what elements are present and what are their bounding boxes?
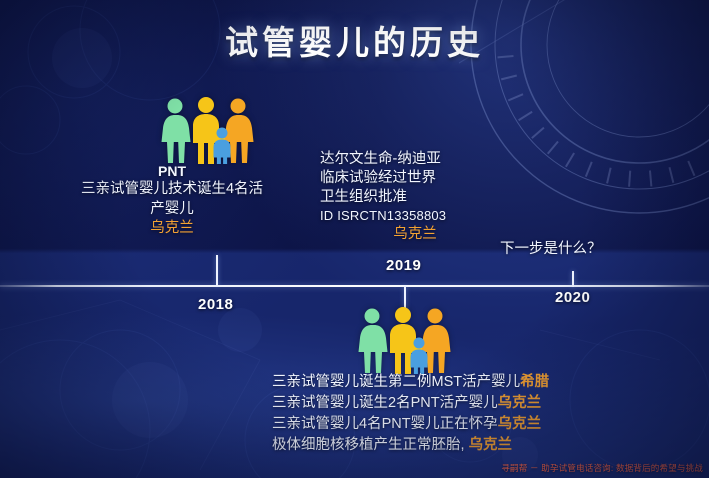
- timeline-year-2020: 2020: [555, 289, 590, 306]
- detail-row-text: 三亲试管婴儿4名PNT婴儿正在怀孕: [272, 416, 498, 432]
- detail-row-country: 乌克兰: [469, 437, 513, 453]
- detail-row: 极体细胞核移植产生正常胚胎, 乌克兰: [272, 435, 652, 456]
- event-block-2020: 下一步是什么？: [500, 240, 670, 259]
- detail-row: 三亲试管婴儿诞生2名PNT活产婴儿乌克兰: [272, 393, 652, 414]
- watermark-text: 寻嗣帮 － 助孕试管电话咨询: 数据背后的希望与挑战: [501, 462, 703, 474]
- event-2019-line2: 临床试验经过世界: [320, 169, 510, 188]
- event-2019-country: 乌克兰: [320, 225, 510, 244]
- timeline-tick-2018: [216, 255, 218, 286]
- event-2019-trial-id: ID ISRCTN13358803: [320, 207, 510, 224]
- detail-row-country: 希腊: [520, 374, 549, 390]
- detail-row-country: 乌克兰: [498, 395, 542, 411]
- event-2019-line3: 卫生组织批准: [320, 188, 510, 207]
- event-2018-line1: 三亲试管婴儿技术诞生4名活: [62, 180, 282, 199]
- detail-row-text: 三亲试管婴儿诞生第二例MST活产婴儿: [272, 374, 520, 390]
- family-people-icon-2019: [355, 306, 453, 374]
- detail-row-text: 极体细胞核移植产生正常胚胎,: [272, 437, 469, 453]
- family-people-icon-2018: [158, 96, 256, 164]
- detail-row-text: 三亲试管婴儿诞生2名PNT活产婴儿: [272, 395, 498, 411]
- event-block-2019-top: 达尔文生命-纳迪亚 临床试验经过世界 卫生组织批准 ID ISRCTN13358…: [320, 150, 510, 244]
- next-step-question: 下一步是什么？: [500, 240, 670, 259]
- timeline-axis: [0, 285, 709, 287]
- slide-canvas: 试管婴儿的历史 2018 2019 2020: [0, 0, 709, 478]
- event-2018-line2: 产婴儿: [62, 200, 282, 219]
- detail-row-country: 乌克兰: [498, 416, 542, 432]
- event-2019-line1: 达尔文生命-纳迪亚: [320, 150, 510, 169]
- detail-row: 三亲试管婴儿诞生第二例MST活产婴儿希腊: [272, 372, 652, 393]
- timeline-year-2018: 2018: [198, 296, 233, 313]
- page-title: 试管婴儿的历史: [0, 16, 709, 64]
- event-2018-tag: PNT: [62, 162, 282, 180]
- event-2018-country: 乌克兰: [62, 219, 282, 238]
- event-details-list: 三亲试管婴儿诞生第二例MST活产婴儿希腊 三亲试管婴儿诞生2名PNT活产婴儿乌克…: [272, 372, 652, 456]
- timeline-year-2019: 2019: [386, 257, 421, 274]
- detail-row: 三亲试管婴儿4名PNT婴儿正在怀孕乌克兰: [272, 414, 652, 435]
- timeline-tick-2020: [572, 271, 574, 287]
- event-block-2018: PNT 三亲试管婴儿技术诞生4名活 产婴儿 乌克兰: [62, 162, 282, 238]
